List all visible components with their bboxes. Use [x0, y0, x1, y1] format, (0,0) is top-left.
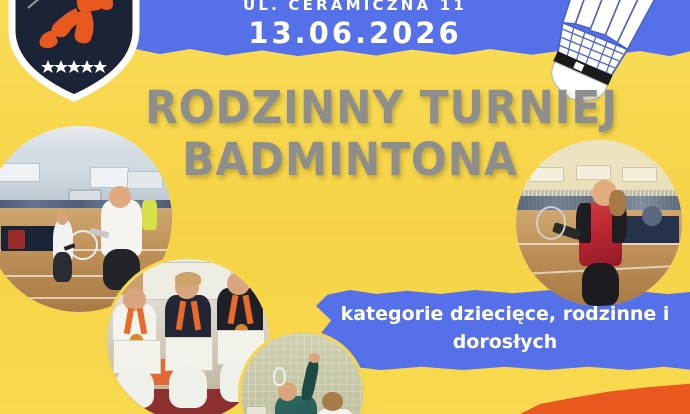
categories-line-1: kategorie dziecięce, rodzinne i [326, 300, 684, 328]
event-header-text: UL. CERAMICZNA 11 13.06.2026 [175, 0, 535, 50]
categories-line-2: dorosłych [326, 328, 684, 356]
categories-text: kategorie dziecięce, rodzinne i dorosłyc… [326, 300, 684, 356]
title-line-1: RODZINNY TURNIEJ [145, 82, 555, 134]
event-date: 13.06.2026 [175, 16, 535, 50]
club-shield-emblem [4, 0, 144, 103]
poster-title: RODZINNY TURNIEJ BADMINTONA [132, 82, 568, 186]
event-address: UL. CERAMICZNA 11 [175, 0, 535, 14]
title-line-2: BADMINTONA [145, 134, 555, 186]
tournament-poster: UL. CERAMICZNA 11 13.06.2026 [0, 0, 690, 414]
